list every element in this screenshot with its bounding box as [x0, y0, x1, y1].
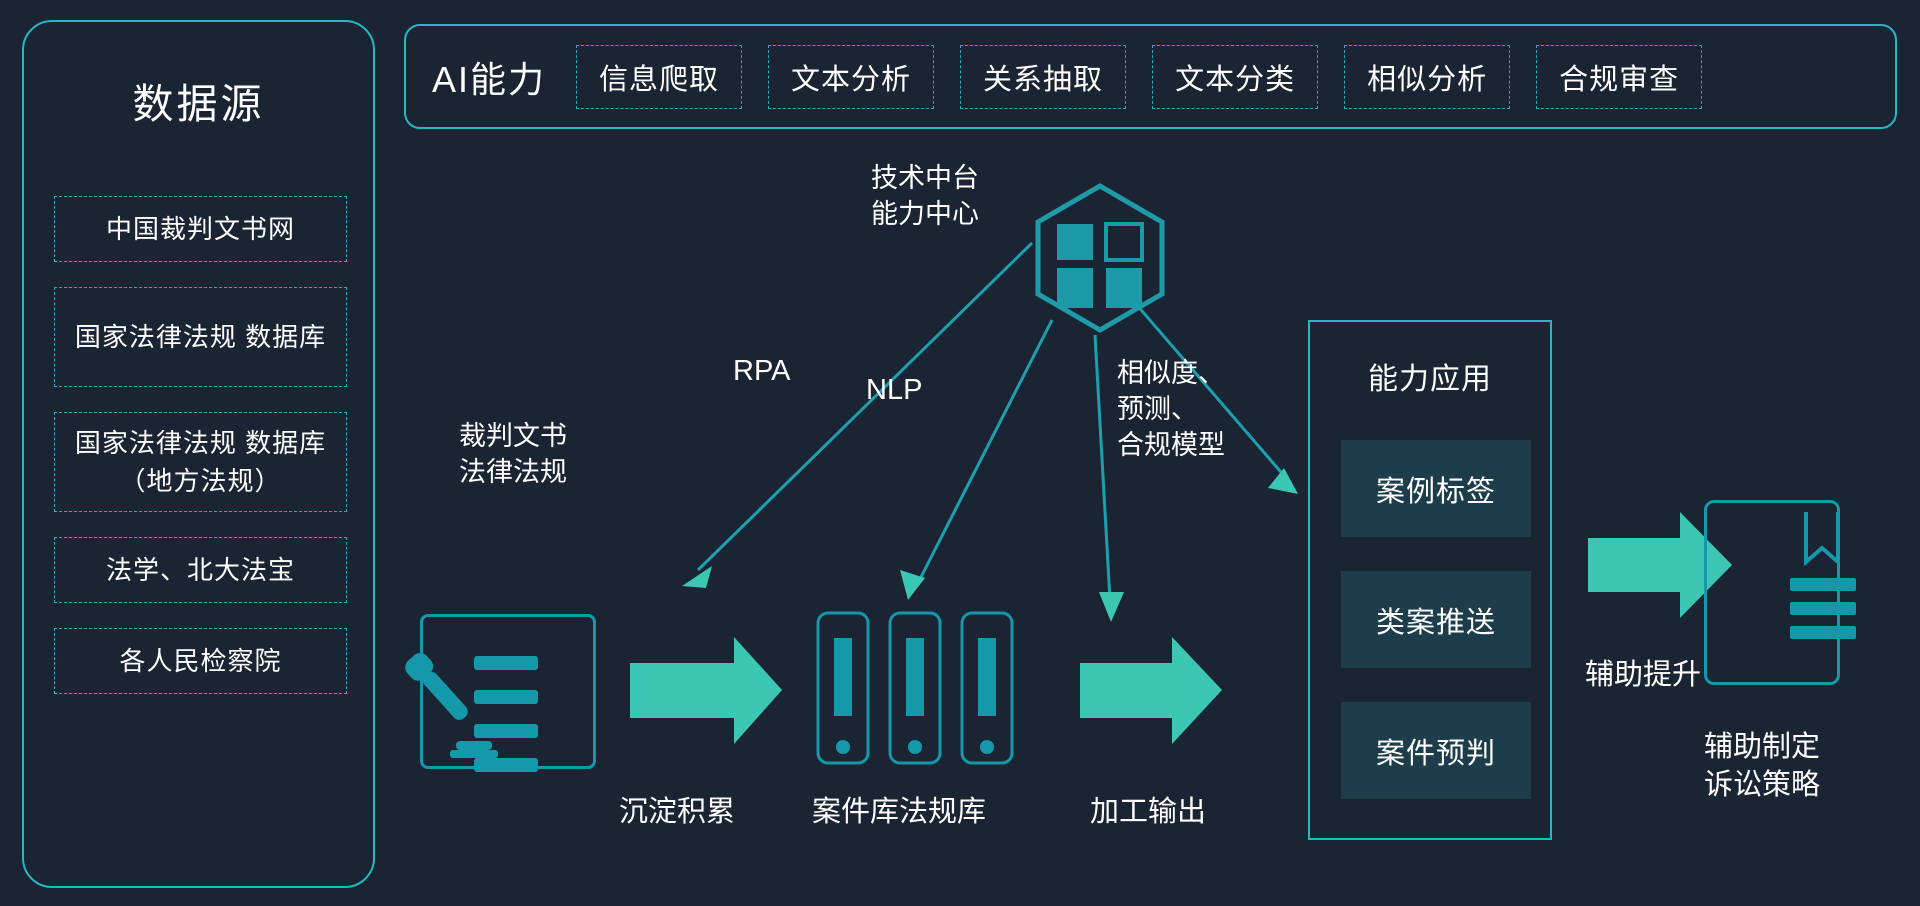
data-source-item-0[interactable]: 中国裁判文书网 — [54, 196, 347, 262]
data-source-item-1[interactable]: 国家法律法规 数据库 — [54, 287, 347, 387]
arrow-label-nlp: NLP — [866, 374, 922, 407]
ai-chip-text-classification[interactable]: 文本分类 — [1152, 45, 1318, 109]
hexagon-grid-icon — [1038, 186, 1162, 330]
server-rack-icon — [818, 613, 1012, 763]
stage-label-case-library: 案件库法规库 — [812, 788, 986, 830]
capability-application-list: 案例标签 类案推送 案件预判 — [1341, 440, 1531, 833]
data-source-panel: 数据源 中国裁判文书网 国家法律法规 数据库 国家法律法规 数据库（地方法规） … — [22, 20, 375, 888]
data-source-item-3[interactable]: 法学、北大法宝 — [54, 537, 347, 603]
connector-nlp — [900, 320, 1052, 600]
stage-label-accumulate: 沉淀积累 — [619, 788, 735, 830]
diagram-canvas: 数据源 中国裁判文书网 国家法律法规 数据库 国家法律法规 数据库（地方法规） … — [0, 0, 1920, 906]
stage-label-processing-output: 加工输出 — [1090, 788, 1206, 830]
connector-rpa — [682, 243, 1032, 588]
data-source-title: 数据源 — [24, 70, 373, 130]
ai-chip-info-crawl[interactable]: 信息爬取 — [576, 45, 742, 109]
ai-chip-compliance-review[interactable]: 合规审查 — [1536, 45, 1702, 109]
stage-label-assist-improve: 辅助提升 — [1585, 651, 1701, 693]
ai-capability-title: AI能力 — [432, 51, 546, 103]
data-source-item-2[interactable]: 国家法律法规 数据库（地方法规） — [54, 412, 347, 512]
data-source-list: 中国裁判文书网 国家法律法规 数据库 国家法律法规 数据库（地方法规） 法学、北… — [54, 196, 347, 719]
hub-label: 技术中台 能力中心 — [840, 160, 1010, 232]
ai-chip-similarity-analysis[interactable]: 相似分析 — [1344, 45, 1510, 109]
capability-application-title: 能力应用 — [1310, 354, 1550, 398]
final-outcome-label: 辅助制定 诉讼策略 — [1687, 728, 1837, 804]
ai-chip-relation-extraction[interactable]: 关系抽取 — [960, 45, 1126, 109]
arrow-label-rpa: RPA — [733, 355, 790, 388]
ai-capability-bar: AI能力 信息爬取 文本分析 关系抽取 文本分类 相似分析 合规审查 — [404, 24, 1897, 129]
arrow-label-similarity: 相似度、 预测、 合规模型 — [1117, 355, 1225, 463]
capability-item-case-prediction[interactable]: 案件预判 — [1341, 702, 1531, 799]
right-arrow-icon-2 — [1080, 637, 1222, 744]
right-arrow-icon-1 — [630, 637, 782, 744]
judgment-document-icon-frame — [420, 614, 596, 769]
ai-chip-text-analysis[interactable]: 文本分析 — [768, 45, 934, 109]
capability-item-case-label[interactable]: 案例标签 — [1341, 440, 1531, 537]
capability-application-panel: 能力应用 案例标签 类案推送 案件预判 — [1308, 320, 1552, 840]
capability-item-similar-case-push[interactable]: 类案推送 — [1341, 571, 1531, 668]
book-icon-frame — [1704, 500, 1840, 685]
data-source-item-4[interactable]: 各人民检察院 — [54, 628, 347, 694]
documents-label: 裁判文书 法律法规 — [428, 418, 598, 490]
